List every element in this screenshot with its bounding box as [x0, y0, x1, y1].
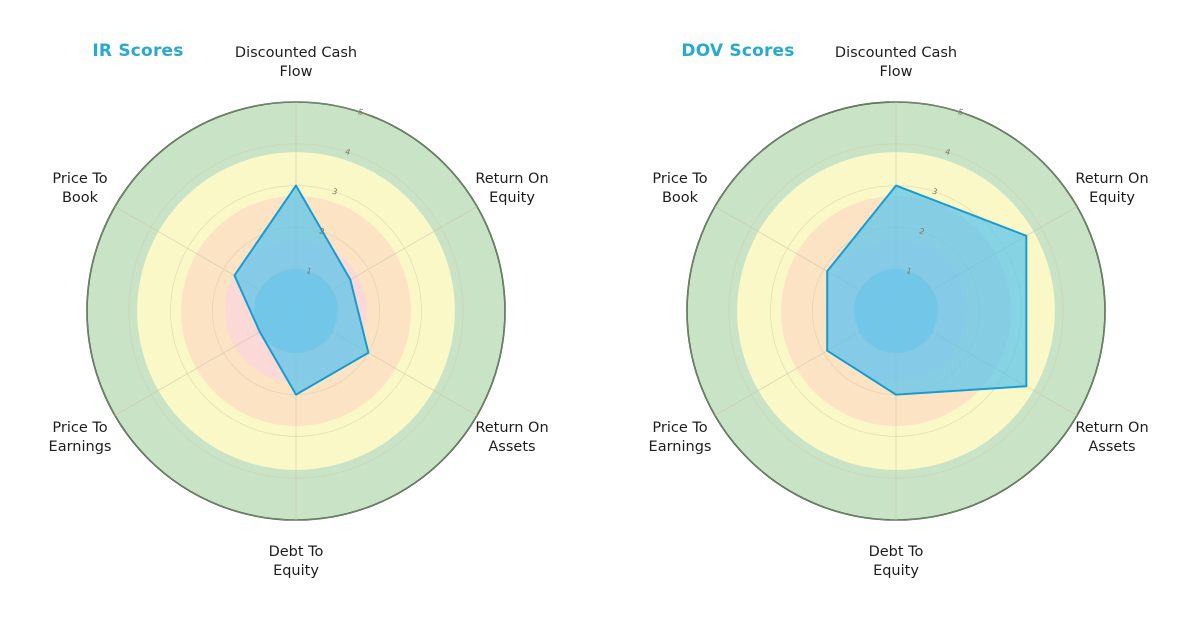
radar-plot-area: 12345 [0, 0, 600, 625]
chart-panel-dov: DOV Scores12345Discounted Cash FlowRetur… [600, 0, 1200, 625]
radar-plot-area: 12345 [600, 0, 1200, 625]
radar-chart-figure: IR Scores12345Discounted Cash FlowReturn… [0, 0, 1200, 625]
chart-panel-ir: IR Scores12345Discounted Cash FlowReturn… [0, 0, 600, 625]
